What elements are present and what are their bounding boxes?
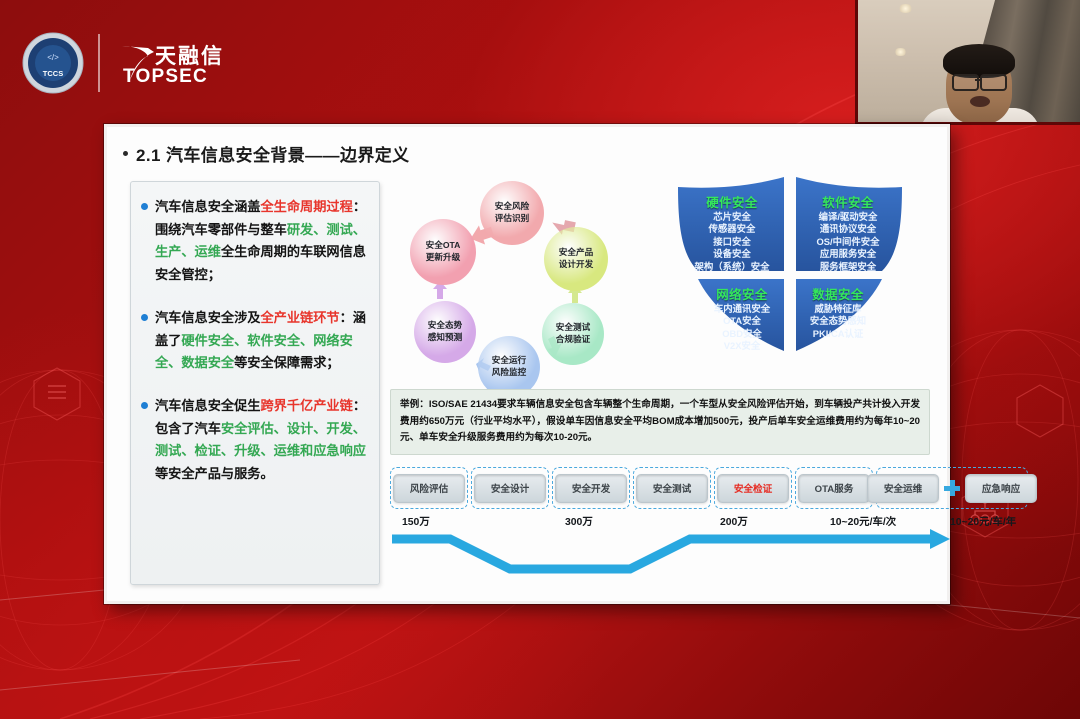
flow-group-g7[interactable]: 安全运维应急响应 (876, 467, 1028, 509)
shield-quadrant-item: 服务框架安全 (820, 261, 876, 273)
flow-group-g4[interactable]: 安全测试 (633, 467, 711, 509)
flow-stage-box[interactable]: 安全测试 (636, 474, 708, 503)
shield-quadrant-item: 应用服务安全 (820, 248, 876, 260)
shield-quadrant-item: PKI/CA认证 (813, 328, 864, 340)
shield-quadrant-item: 通讯协议安全 (820, 223, 876, 235)
key-point-2: 汽车信息安全涉及全产业链环节：涵盖了硬件安全、软件安全、网络安全、数据安全等安全… (141, 307, 367, 375)
flow-stage-box[interactable]: OTA服务 (798, 474, 870, 503)
key-points-panel: 汽车信息安全涵盖全生命周期过程：围绕汽车零部件与整车研发、测试、生产、运维全生命… (130, 181, 380, 585)
cycle-node-label: 安全态势 (428, 320, 462, 332)
cycle-node-label: 安全测试 (556, 322, 590, 334)
flow-group-g6[interactable]: OTA服务 (795, 467, 873, 509)
shield-quadrant-network: 网络安全车内通讯安全OTA安全OBD安全V2X安全 (700, 281, 784, 353)
flow-cost-label: 300万 (565, 513, 593, 528)
title-bullet-icon (123, 151, 128, 156)
shield-quadrant-item: V2X安全 (724, 340, 760, 352)
cycle-node-label: 安全风险 (495, 201, 529, 213)
certification-badge: </> TCCS (22, 32, 84, 94)
ceiling-light-1 (898, 4, 913, 13)
cycle-node-situation-aware: 安全态势感知预测 (414, 301, 476, 363)
flow-group-g2[interactable]: 安全设计 (471, 467, 549, 509)
flow-stage-box[interactable]: 安全运维 (867, 474, 939, 503)
cycle-node-risk-assessment: 安全风险评估识别 (480, 181, 544, 245)
glasses-left-lens (952, 74, 979, 91)
cost-curve-chart (390, 527, 950, 582)
shield-quadrant-item: OS/中间件安全 (816, 236, 879, 248)
cycle-node-secure-ota: 安全OTA更新升级 (410, 219, 476, 285)
shield-quadrant-data: 数据安全威胁特征库安全态势感知PKI/CA认证 (796, 281, 880, 353)
shield-quadrant-title: 网络安全 (716, 285, 768, 303)
cycle-node-label: 合规验证 (556, 334, 590, 346)
glasses-bridge (975, 79, 980, 81)
key-point-text: 汽车信息安全涵盖全生命周期过程：围绕汽车零部件与整车研发、测试、生产、运维全生命… (155, 196, 367, 287)
flow-stage-box[interactable]: 安全开发 (555, 474, 627, 503)
cycle-node-label: 设计开发 (559, 259, 593, 271)
plus-icon (944, 480, 960, 496)
shield-quadrant-software: 软件安全编译/驱动安全通讯协议安全OS/中间件安全应用服务安全服务框架安全 (798, 189, 898, 273)
glasses-right-lens (980, 74, 1007, 91)
flow-stage-box[interactable]: 安全设计 (474, 474, 546, 503)
example-callout-box: 举例：ISO/SAE 21434要求车辆信息安全包含车辆整个生命周期，一个车型从… (390, 389, 930, 455)
cycle-node-label: 更新升级 (426, 252, 460, 264)
key-point-text: 汽车信息安全涉及全产业链环节：涵盖了硬件安全、软件安全、网络安全、数据安全等安全… (155, 307, 367, 375)
shield-quadrant-title: 软件安全 (822, 193, 874, 211)
flow-group-g1[interactable]: 风险评估 (390, 467, 468, 509)
security-shield-diagram: 硬件安全芯片安全传感器安全接口安全设备安全架构（系统）安全软件安全编译/驱动安全… (652, 175, 928, 375)
slide-title-text: 2.1 汽车信息安全背景——边界定义 (136, 141, 410, 166)
shield-quadrant-item: OTA安全 (723, 315, 761, 327)
shield-quadrant-hardware: 硬件安全芯片安全传感器安全接口安全设备安全架构（系统）安全 (682, 189, 782, 273)
slide-title: 2.1 汽车信息安全背景——边界定义 (123, 137, 937, 169)
bullet-dot-icon (141, 402, 148, 409)
shield-quadrant-item: 车内通讯安全 (714, 303, 770, 315)
presentation-slide: 2.1 汽车信息安全背景——边界定义 汽车信息安全涵盖全生命周期过程：围绕汽车零… (104, 124, 950, 604)
cycle-node-label: 风险监控 (492, 367, 526, 379)
shield-quadrant-title: 数据安全 (812, 285, 864, 303)
shield-quadrant-item: 传感器安全 (709, 223, 756, 235)
shield-quadrant-item: 安全态势感知 (810, 315, 866, 327)
cycle-node-label: 安全运行 (492, 355, 526, 367)
shield-quadrant-item: 接口安全 (713, 236, 751, 248)
cycle-node-label: 感知预测 (428, 332, 462, 344)
flow-stage-box[interactable]: 应急响应 (965, 474, 1037, 503)
bullet-dot-icon (141, 314, 148, 321)
key-point-text: 汽车信息安全促生跨界千亿产业链：包含了汽车安全评估、设计、开发、测试、检证、升级… (155, 395, 367, 486)
shield-quadrant-item: 架构（系统）安全 (694, 261, 769, 273)
company-name-en: TOPSEC (123, 66, 208, 88)
flow-cost-label: 10~20元/车/年 (950, 513, 1016, 528)
presenter-hair (943, 44, 1015, 78)
flow-group-g3[interactable]: 安全开发 (552, 467, 630, 509)
presenter-mouth (970, 96, 990, 107)
cycle-node-security-test: 安全测试合规验证 (542, 303, 604, 365)
cycle-node-label: 评估识别 (495, 213, 529, 225)
shield-quadrant-title: 硬件安全 (706, 193, 758, 211)
flow-cost-label: 150万 (402, 513, 430, 528)
bullet-dot-icon (141, 203, 148, 210)
flow-cost-label: 200万 (720, 513, 748, 528)
cycle-node-label: 安全OTA (426, 240, 461, 252)
flow-group-g5[interactable]: 安全检证 (714, 467, 792, 509)
lifecycle-cycle-diagram: 安全风险评估识别安全产品设计开发安全测试合规验证安全运行风险监控安全态势感知预测… (392, 181, 642, 406)
cycle-node-product-design: 安全产品设计开发 (544, 227, 608, 291)
shield-quadrant-item: 编译/驱动安全 (819, 211, 878, 223)
key-point-1: 汽车信息安全涵盖全生命周期过程：围绕汽车零部件与整车研发、测试、生产、运维全生命… (141, 196, 367, 287)
key-point-3: 汽车信息安全促生跨界千亿产业链：包含了汽车安全评估、设计、开发、测试、检证、升级… (141, 395, 367, 486)
svg-text:</>: </> (47, 53, 59, 62)
shield-quadrant-item: 芯片安全 (713, 211, 751, 223)
cert-badge-label: TCCS (43, 69, 63, 78)
flow-cost-label: 10~20元/车/次 (830, 513, 896, 528)
presenter-webcam[interactable] (855, 0, 1080, 125)
flow-stage-box[interactable]: 安全检证 (717, 474, 789, 503)
shield-quadrant-item: 设备安全 (713, 248, 751, 260)
shield-quadrant-item: 威胁特征库 (815, 303, 862, 315)
brand-divider (98, 34, 100, 92)
cost-flow-diagram: 风险评估安全设计安全开发安全测试安全检证OTA服务安全运维应急响应150万300… (390, 467, 950, 582)
shield-quadrant-item: OBD安全 (722, 328, 762, 340)
ceiling-light-2 (894, 48, 907, 56)
flow-stage-box[interactable]: 风险评估 (393, 474, 465, 503)
cycle-node-label: 安全产品 (559, 247, 593, 259)
